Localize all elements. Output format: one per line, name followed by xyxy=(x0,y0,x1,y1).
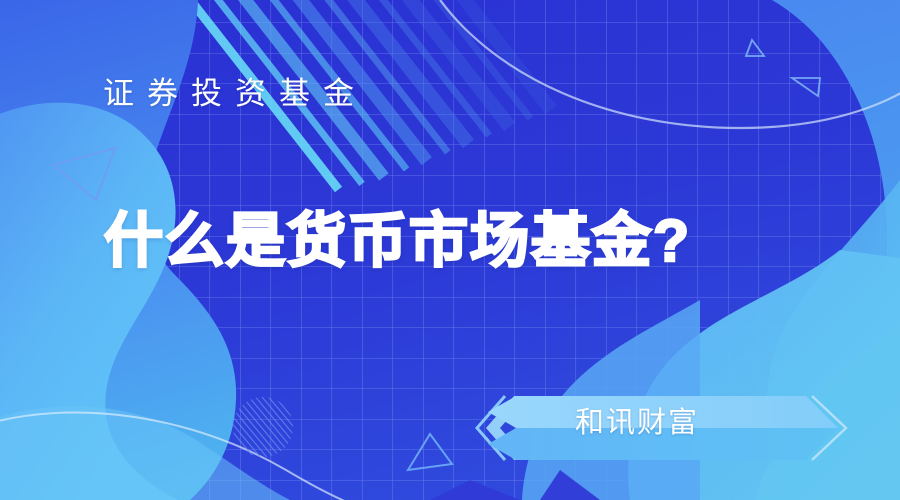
hatched-circle xyxy=(233,397,293,457)
kicker-text: 证券投资基金 xyxy=(103,78,367,109)
poster-canvas: 证券投资基金 什么是货币市场基金? 和讯财富 xyxy=(0,0,900,500)
ribbon-label-text: 和讯财富 xyxy=(575,409,699,438)
headline-text: 什么是货币市场基金? xyxy=(104,212,691,271)
